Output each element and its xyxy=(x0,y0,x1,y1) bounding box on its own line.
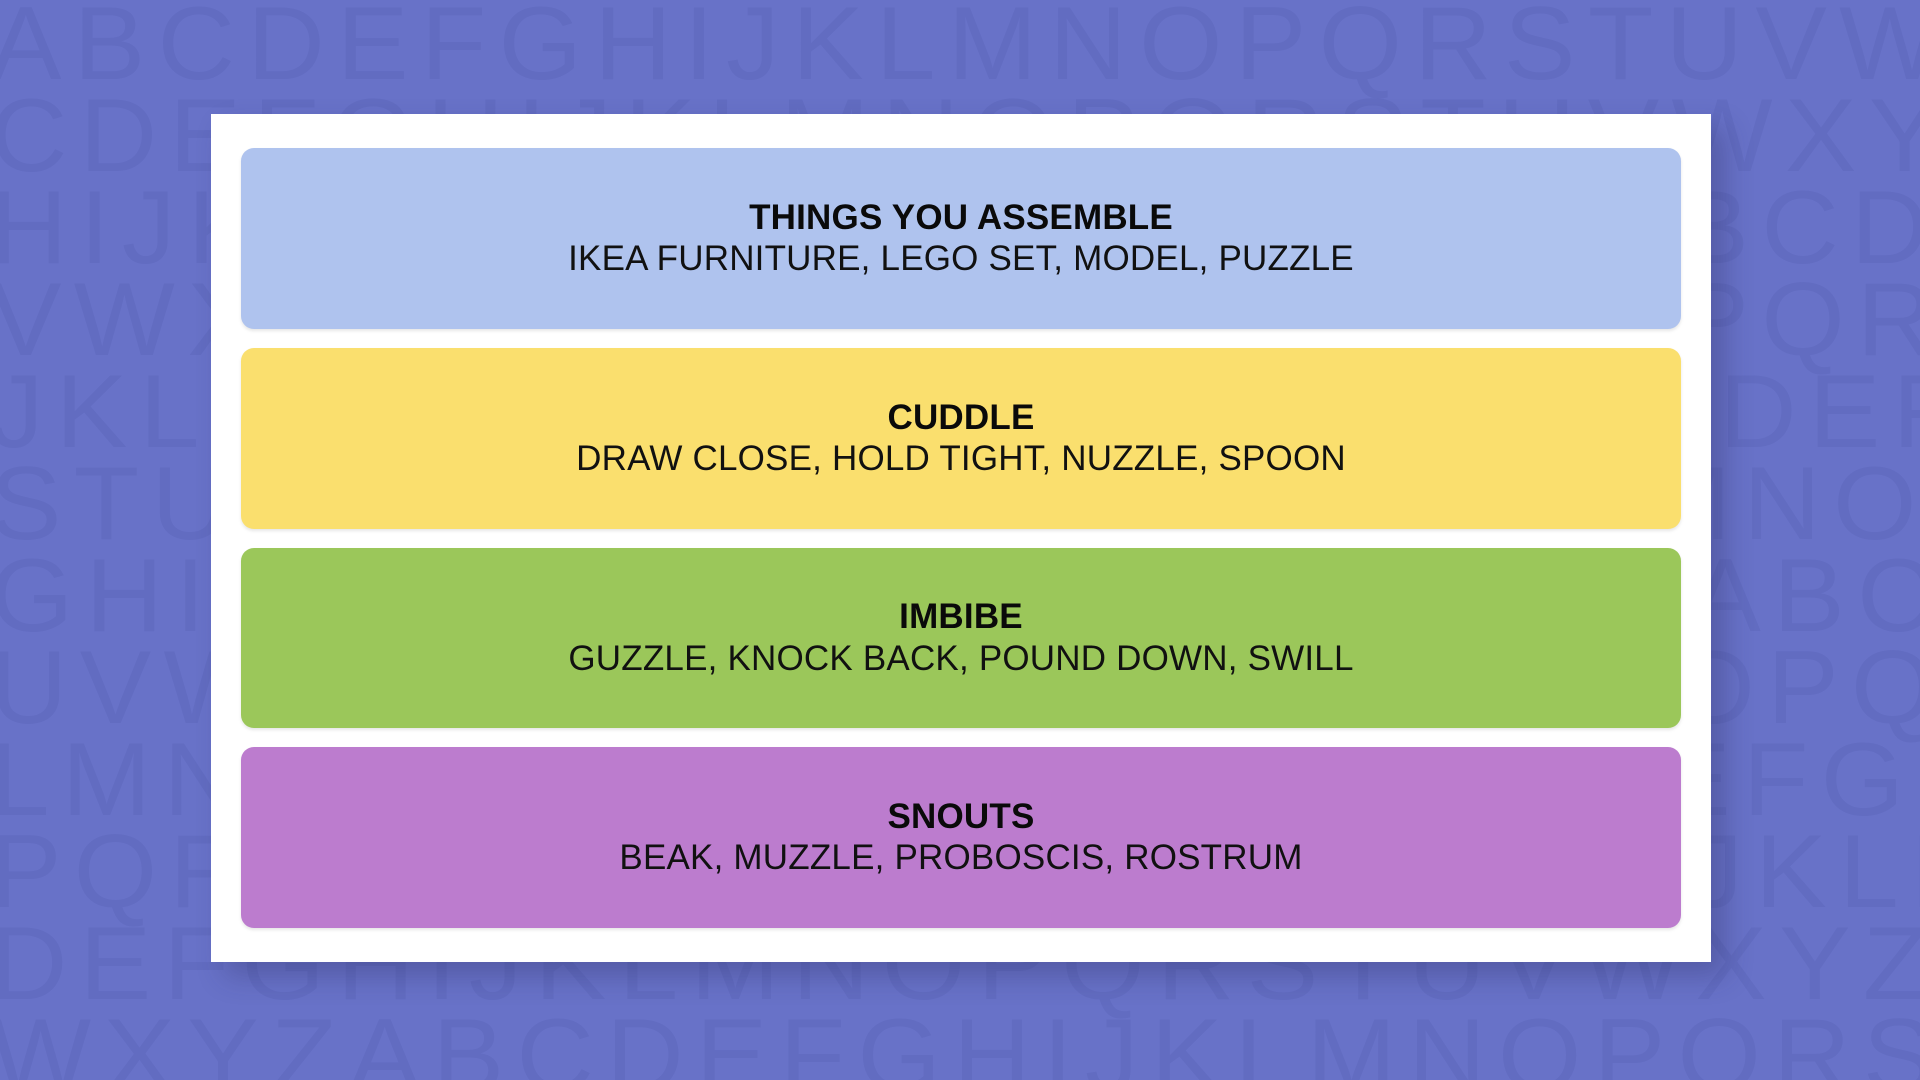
category-title: THINGS YOU ASSEMBLE xyxy=(749,198,1173,237)
background-letter-row: WXYZABCDEFGHIJKLMNOPQRSTUVWXYZABC xyxy=(0,1004,1920,1080)
category-card-cuddle[interactable]: CUDDLE DRAW CLOSE, HOLD TIGHT, NUZZLE, S… xyxy=(241,348,1681,529)
category-members: BEAK, MUZZLE, PROBOSCIS, ROSTRUM xyxy=(619,838,1302,878)
category-members: GUZZLE, KNOCK BACK, POUND DOWN, SWILL xyxy=(568,639,1353,679)
category-title: IMBIBE xyxy=(899,597,1023,636)
category-members: DRAW CLOSE, HOLD TIGHT, NUZZLE, SPOON xyxy=(576,439,1346,479)
category-card-imbibe[interactable]: IMBIBE GUZZLE, KNOCK BACK, POUND DOWN, S… xyxy=(241,548,1681,729)
category-title: CUDDLE xyxy=(887,398,1034,437)
category-card-snouts[interactable]: SNOUTS BEAK, MUZZLE, PROBOSCIS, ROSTRUM xyxy=(241,747,1681,928)
category-card-things-you-assemble[interactable]: THINGS YOU ASSEMBLE IKEA FURNITURE, LEGO… xyxy=(241,148,1681,329)
solution-board-panel: THINGS YOU ASSEMBLE IKEA FURNITURE, LEGO… xyxy=(211,114,1711,962)
category-title: SNOUTS xyxy=(887,797,1034,836)
category-members: IKEA FURNITURE, LEGO SET, MODEL, PUZZLE xyxy=(568,239,1354,279)
